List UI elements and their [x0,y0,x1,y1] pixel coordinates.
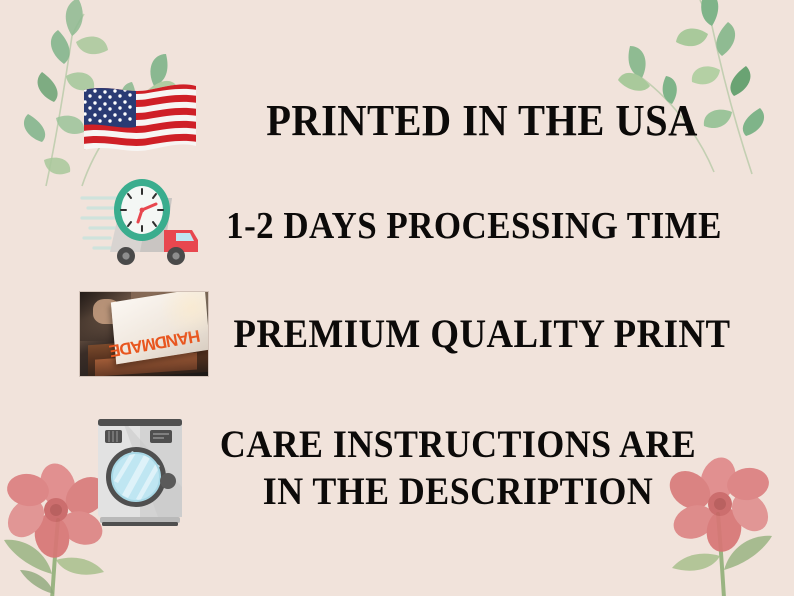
fast-delivery-truck-clock-icon [80,178,202,274]
feature-row-printed-in-usa: PRINTED IN THE USA [0,78,794,164]
washing-machine-icon [92,409,188,527]
feature-text: PREMIUM QUALITY PRINT [224,311,739,357]
feature-text: CARE INSTRUCTIONS ARE IN THE DESCRIPTION [200,421,715,515]
photo-highlight [159,292,208,337]
screen-printing-photo-icon: HANDMADE [80,292,208,376]
feature-row-processing-time: 1-2 DAYS PROCESSING TIME [0,178,794,274]
feature-line: 1-2 DAYS PROCESSING TIME [216,204,731,248]
feature-text: PRINTED IN THE USA [224,96,739,146]
clock-face [114,179,170,241]
icon-cell: HANDMADE [80,292,208,376]
feature-line: CARE INSTRUCTIONS ARE [200,421,715,468]
feature-row-care-instructions: CARE INSTRUCTIONS ARE IN THE DESCRIPTION [0,404,794,532]
feature-line: IN THE DESCRIPTION [200,468,715,515]
feature-line: PREMIUM QUALITY PRINT [224,311,739,357]
usa-flag-icon [78,80,202,162]
icon-cell [80,178,202,274]
icon-cell [92,409,188,527]
feature-text: 1-2 DAYS PROCESSING TIME [216,204,731,248]
icon-cell [78,80,202,162]
feature-row-premium-quality: HANDMADE PREMIUM QUALITY PRINT [0,288,794,380]
feature-line: PRINTED IN THE USA [224,96,739,146]
poster-canvas: PRINTED IN THE USA [0,0,794,596]
